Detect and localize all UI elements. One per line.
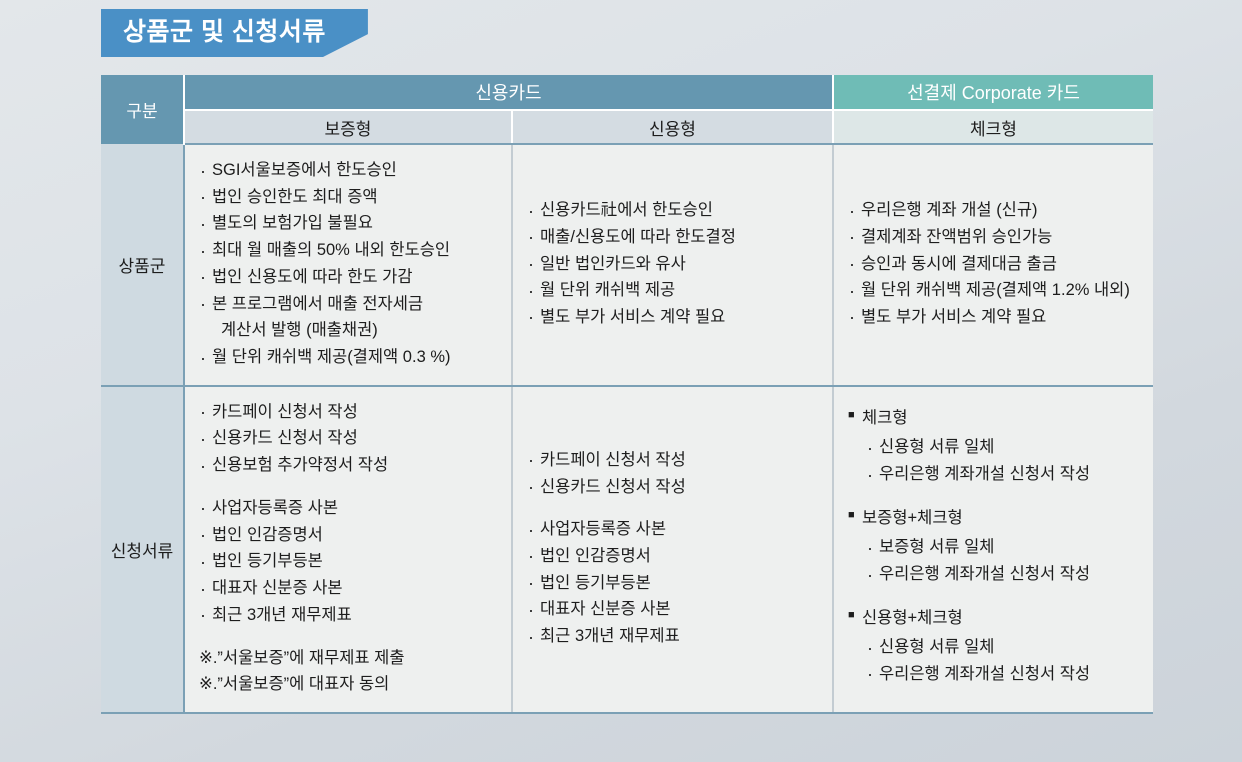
header-row-group: 구분 신용카드 선결제 Corporate 카드 <box>101 75 1153 110</box>
bullet-list: 신용형 서류 일체 우리은행 계좌개설 신청서 작성 <box>848 634 1153 687</box>
list-item: 우리은행 계좌개설 신청서 작성 <box>866 561 1153 588</box>
list-item: SGI서울보증에서 한도승인 <box>199 157 511 184</box>
list-item: 월 단위 캐쉬백 제공 <box>527 277 832 304</box>
list-item: 신용카드 신청서 작성 <box>527 474 832 501</box>
bullet-list: 보증형 서류 일체 우리은행 계좌개설 신청서 작성 <box>848 534 1153 587</box>
cell-documents-credit: 카드페이 신청서 작성 신용카드 신청서 작성 사업자등록증 사본 법인 인감증… <box>512 386 833 713</box>
product-documents-table: 구분 신용카드 선결제 Corporate 카드 보증형 신용형 체크형 상품군… <box>101 75 1153 714</box>
list-item: 우리은행 계좌개설 신청서 작성 <box>866 461 1153 488</box>
subheader-check-type: 체크형 <box>833 110 1153 144</box>
header-group-corporate-card: 선결제 Corporate 카드 <box>833 75 1153 110</box>
list-item: 월 단위 캐쉬백 제공(결제액 1.2% 내외) <box>848 277 1153 304</box>
bullet-list: 신용카드社에서 한도승인 매출/신용도에 따라 한도결정 일반 법인카드와 유사… <box>527 197 832 331</box>
list-item: 법인 등기부등본 <box>527 570 832 597</box>
list-item: 승인과 동시에 결제대금 출금 <box>848 251 1153 278</box>
list-spacer <box>199 629 511 645</box>
list-item: 법인 승인한도 최대 증액 <box>199 184 511 211</box>
list-item: 매출/신용도에 따라 한도결정 <box>527 224 832 251</box>
list-item: 카드페이 신청서 작성 <box>527 447 832 474</box>
group-heading: 체크형 <box>848 405 1153 431</box>
list-item-continuation: 계산서 발행 (매출채권) <box>199 317 511 344</box>
list-item: 대표자 신분증 사본 <box>199 575 511 602</box>
document-group-guarantee-plus-check: 보증형+체크형 보증형 서류 일체 우리은행 계좌개설 신청서 작성 <box>848 505 1153 588</box>
document-group-check: 체크형 신용형 서류 일체 우리은행 계좌개설 신청서 작성 <box>848 405 1153 488</box>
list-item: 법인 등기부등본 <box>199 548 511 575</box>
list-item: 법인 신용도에 따라 한도 가감 <box>199 264 511 291</box>
list-item: 신용카드社에서 한도승인 <box>527 197 832 224</box>
footnote: ※.”서울보증”에 재무제표 제출 <box>199 645 511 672</box>
list-item: 대표자 신분증 사본 <box>527 596 832 623</box>
list-item: 사업자등록증 사본 <box>527 516 832 543</box>
list-item: 보증형 서류 일체 <box>866 534 1153 561</box>
list-spacer <box>527 500 832 516</box>
list-item: 사업자등록증 사본 <box>199 495 511 522</box>
list-item: 결제계좌 잔액범위 승인가능 <box>848 224 1153 251</box>
subheader-guarantee-type: 보증형 <box>184 110 512 144</box>
cell-product-check: 우리은행 계좌 개설 (신규) 결제계좌 잔액범위 승인가능 승인과 동시에 결… <box>833 144 1153 386</box>
page-title-banner: 상품군 및 신청서류 <box>101 9 368 57</box>
header-row-subtypes: 보증형 신용형 체크형 <box>101 110 1153 144</box>
list-item: 최근 3개년 재무제표 <box>527 623 832 650</box>
list-item: 별도 부가 서비스 계약 필요 <box>848 304 1153 331</box>
list-item: 우리은행 계좌개설 신청서 작성 <box>866 661 1153 688</box>
list-item: 법인 인감증명서 <box>527 543 832 570</box>
table-row: 신청서류 카드페이 신청서 작성 신용카드 신청서 작성 신용보험 추가약정서 … <box>101 386 1153 713</box>
bullet-list: 우리은행 계좌 개설 (신규) 결제계좌 잔액범위 승인가능 승인과 동시에 결… <box>848 197 1153 331</box>
header-corner-label: 구분 <box>101 75 184 144</box>
list-item: 법인 인감증명서 <box>199 522 511 549</box>
table-body: 상품군 SGI서울보증에서 한도승인 법인 승인한도 최대 증액 별도의 보험가… <box>101 144 1153 713</box>
list-item: 신용카드 신청서 작성 <box>199 425 511 452</box>
list-item: 본 프로그램에서 매출 전자세금 <box>199 291 511 318</box>
list-item: 별도 부가 서비스 계약 필요 <box>527 304 832 331</box>
list-item: 별도의 보험가입 불필요 <box>199 210 511 237</box>
subheader-credit-type: 신용형 <box>512 110 833 144</box>
bullet-list: 신용형 서류 일체 우리은행 계좌개설 신청서 작성 <box>848 434 1153 487</box>
group-heading: 보증형+체크형 <box>848 505 1153 531</box>
list-item: 최근 3개년 재무제표 <box>199 602 511 629</box>
row-label-required-documents: 신청서류 <box>101 386 184 713</box>
list-item: 신용형 서류 일체 <box>866 634 1153 661</box>
list-item: 카드페이 신청서 작성 <box>199 399 511 426</box>
list-item: 신용보험 추가약정서 작성 <box>199 452 511 479</box>
table-header: 구분 신용카드 선결제 Corporate 카드 보증형 신용형 체크형 <box>101 75 1153 144</box>
list-item: 일반 법인카드와 유사 <box>527 251 832 278</box>
cell-product-credit: 신용카드社에서 한도승인 매출/신용도에 따라 한도결정 일반 법인카드와 유사… <box>512 144 833 386</box>
list-spacer <box>199 479 511 495</box>
bullet-list: SGI서울보증에서 한도승인 법인 승인한도 최대 증액 별도의 보험가입 불필… <box>199 157 511 371</box>
cell-documents-guarantee: 카드페이 신청서 작성 신용카드 신청서 작성 신용보험 추가약정서 작성 사업… <box>184 386 512 713</box>
cell-product-guarantee: SGI서울보증에서 한도승인 법인 승인한도 최대 증액 별도의 보험가입 불필… <box>184 144 512 386</box>
list-item: 월 단위 캐쉬백 제공(결제액 0.3 %) <box>199 344 511 371</box>
product-documents-table-container: 구분 신용카드 선결제 Corporate 카드 보증형 신용형 체크형 상품군… <box>101 75 1153 714</box>
header-group-credit-card: 신용카드 <box>184 75 833 110</box>
group-heading: 신용형+체크형 <box>848 605 1153 631</box>
footnote: ※.”서울보증”에 대표자 동의 <box>199 671 511 698</box>
page-title: 상품군 및 신청서류 <box>101 9 368 57</box>
list-item: 신용형 서류 일체 <box>866 434 1153 461</box>
document-group-credit-plus-check: 신용형+체크형 신용형 서류 일체 우리은행 계좌개설 신청서 작성 <box>848 605 1153 688</box>
bullet-list: 카드페이 신청서 작성 신용카드 신청서 작성 신용보험 추가약정서 작성 사업… <box>199 399 511 698</box>
table-row: 상품군 SGI서울보증에서 한도승인 법인 승인한도 최대 증액 별도의 보험가… <box>101 144 1153 386</box>
row-label-product-group: 상품군 <box>101 144 184 386</box>
list-item: 최대 월 매출의 50% 내외 한도승인 <box>199 237 511 264</box>
cell-documents-check: 체크형 신용형 서류 일체 우리은행 계좌개설 신청서 작성 보증형+체크형 보… <box>833 386 1153 713</box>
bullet-list: 카드페이 신청서 작성 신용카드 신청서 작성 사업자등록증 사본 법인 인감증… <box>527 447 832 650</box>
list-item: 우리은행 계좌 개설 (신규) <box>848 197 1153 224</box>
